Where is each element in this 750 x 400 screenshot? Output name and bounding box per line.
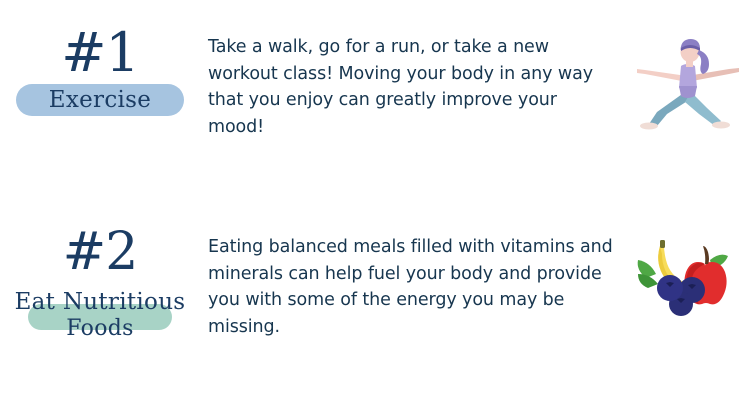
tip-2-label-line-1: Eat Nutritious	[11, 288, 190, 316]
tip-2-heading-column: #2 Eat Nutritious Foods	[0, 222, 200, 343]
tip-1-rank: #1	[61, 26, 139, 80]
tip-2-body-column: Eating balanced meals filled with vitami…	[200, 222, 624, 340]
tip-1-body-column: Take a walk, go for a run, or take a new…	[200, 22, 624, 140]
tip-1-heading-column: #1 Exercise	[0, 22, 200, 114]
infographic-page: #1 Exercise Take a walk, go for a run, o…	[0, 0, 750, 400]
woman-yoga-warrior-pose-icon	[627, 26, 747, 138]
tip-1-label-line-1: Exercise	[45, 86, 155, 114]
tip-2-illustration-column	[624, 222, 750, 321]
tip-item-2: #2 Eat Nutritious Foods Eating balanced …	[0, 222, 750, 382]
tip-2-label-line-2: Foods	[62, 316, 137, 343]
tip-1-body-text: Take a walk, go for a run, or take a new…	[208, 34, 614, 140]
tip-1-label-wrap: Exercise	[0, 86, 200, 114]
tip-item-1: #1 Exercise Take a walk, go for a run, o…	[0, 22, 750, 182]
fruit-cluster-icon	[632, 226, 742, 321]
tip-2-label-wrap: Eat Nutritious Foods	[0, 288, 200, 343]
tip-1-illustration-column	[624, 22, 750, 138]
tip-2-body-text: Eating balanced meals filled with vitami…	[208, 234, 614, 340]
tip-2-rank: #2	[63, 226, 138, 278]
